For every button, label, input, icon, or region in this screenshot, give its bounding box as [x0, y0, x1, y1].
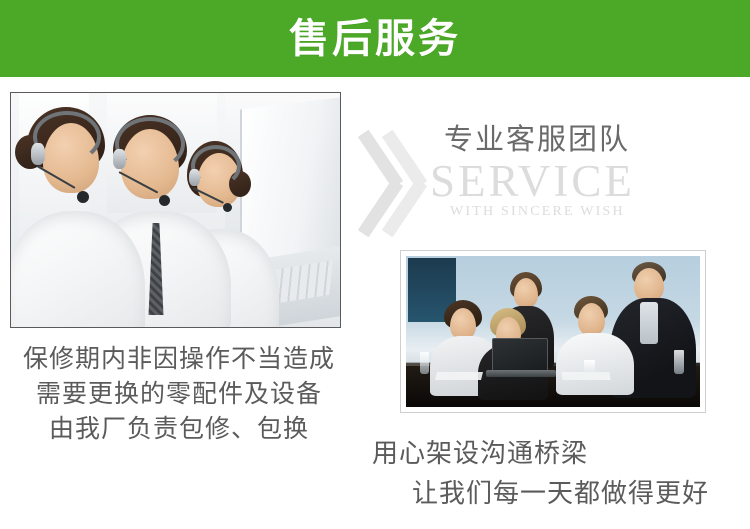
warranty-caption-line: 保修期内非因操作不当造成: [0, 341, 358, 376]
paper-document: [435, 372, 483, 380]
water-glass: [674, 350, 684, 374]
double-chevron-left-icon: [368, 130, 428, 238]
warranty-caption: 保修期内非因操作不当造成 需要更换的零配件及设备 由我厂负责包修、包换: [0, 341, 358, 446]
header-bar: 售后服务: [0, 0, 750, 77]
person-head: [578, 303, 605, 336]
water-glass: [420, 352, 429, 374]
headset-mic: [159, 195, 170, 206]
paper-document: [561, 372, 610, 380]
business-meeting-photo-scene: [406, 256, 700, 407]
agent-figure: [10, 107, 145, 328]
communication-caption-line: 用心架设沟通桥梁: [372, 434, 750, 474]
person-torso: [556, 333, 634, 395]
headset-mic: [77, 191, 89, 203]
service-heading-chinese: 专业客服团队: [430, 122, 730, 156]
person-head: [634, 268, 664, 302]
service-banner-page: 售后服务: [0, 0, 750, 529]
laptop-keyboard: [486, 370, 556, 377]
communication-caption-line: 让我们每一天都做得更好: [372, 474, 750, 514]
service-heading-subtitle: WITH SINCERE WISH: [430, 203, 730, 221]
headset-earpiece: [31, 143, 45, 165]
agent-body: [10, 211, 145, 328]
service-heading-english: SERVICE: [430, 157, 730, 205]
communication-caption: 用心架设沟通桥梁 让我们每一天都做得更好: [372, 434, 750, 514]
service-heading-block: 专业客服团队 SERVICE WITH SINCERE WISH: [430, 122, 730, 221]
laptop-screen: [492, 338, 548, 372]
person-head: [514, 278, 538, 308]
dress-shirt: [640, 302, 658, 344]
page-title: 售后服务: [289, 19, 461, 59]
warranty-caption-line: 需要更换的零配件及设备: [0, 376, 358, 411]
warranty-caption-line: 由我厂负责包修、包换: [0, 411, 358, 446]
business-meeting-photo: [400, 250, 706, 413]
call-center-photo-scene: [11, 93, 340, 327]
call-center-photo: [10, 92, 341, 328]
